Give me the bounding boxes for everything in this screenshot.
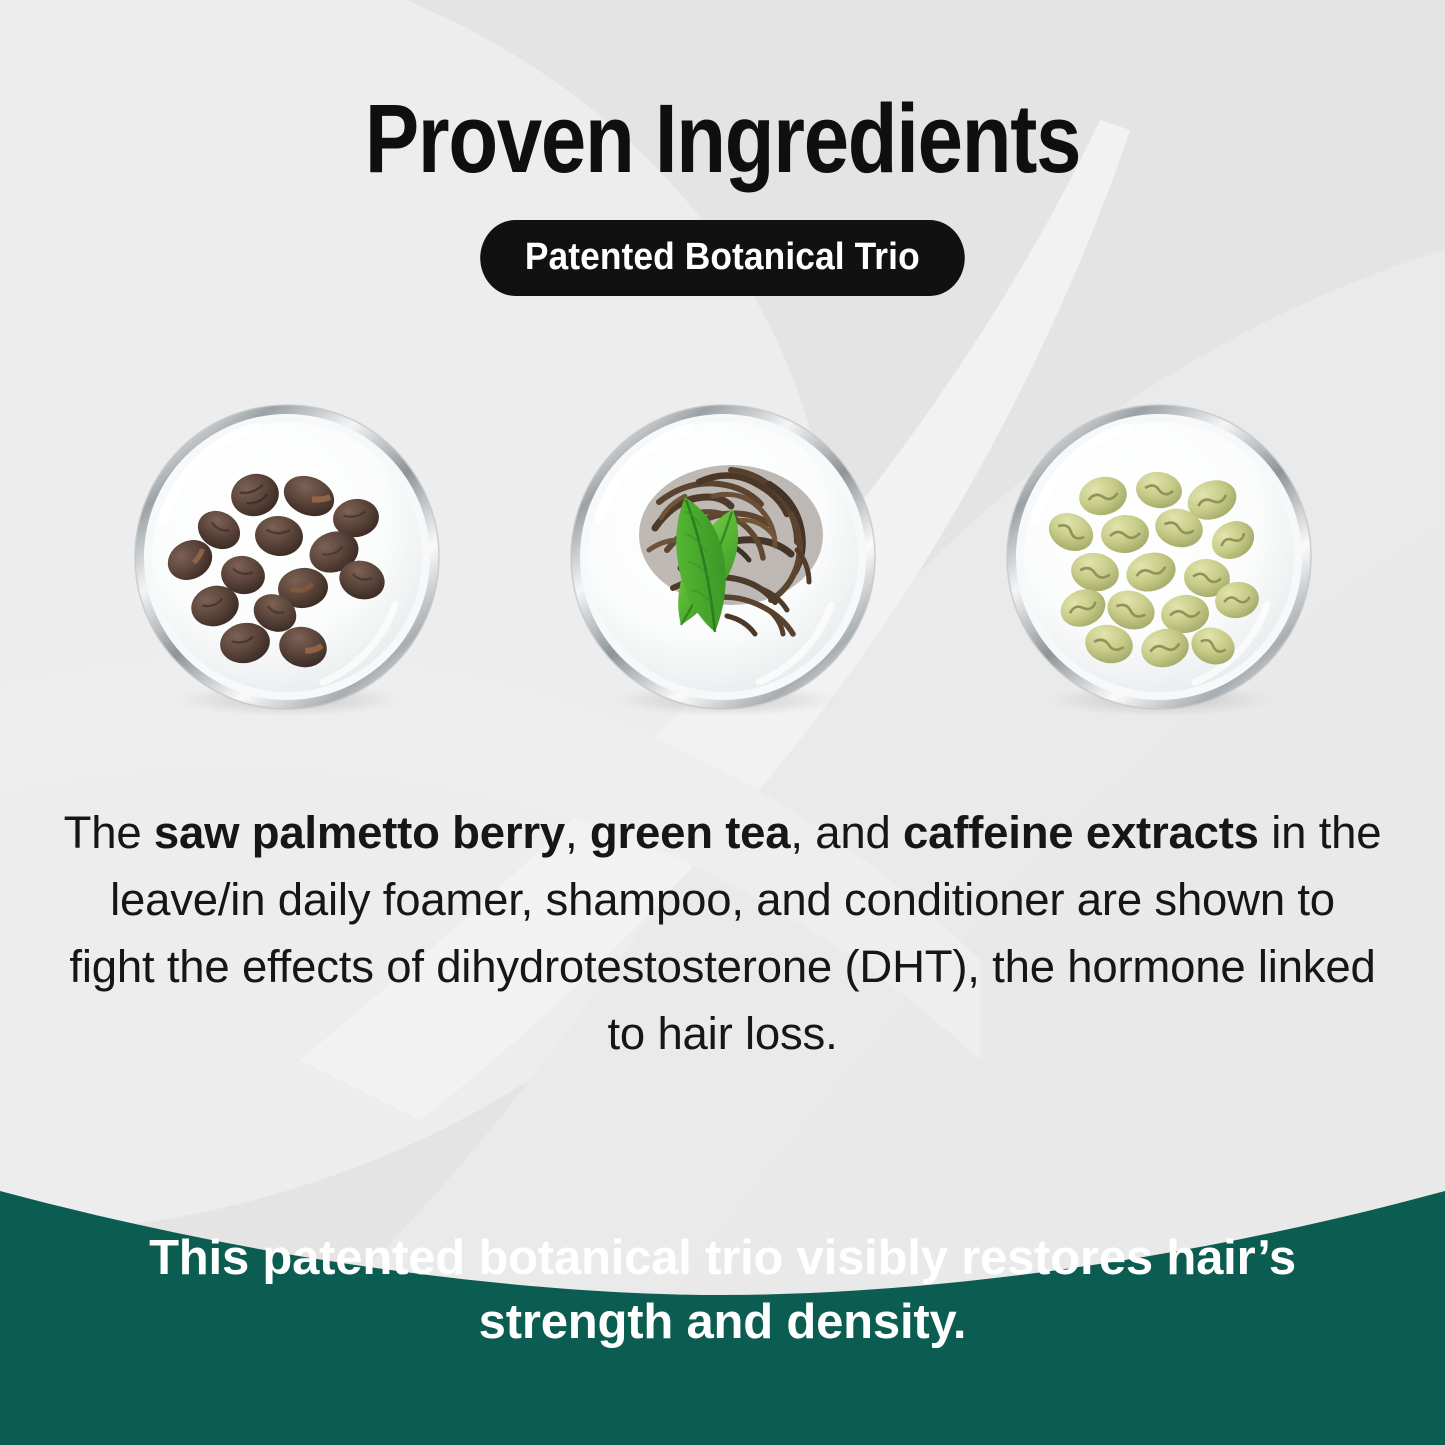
ingredient-dish-green-coffee-bean <box>999 400 1319 720</box>
body-text-part2: , <box>565 807 590 858</box>
body-bold-green-tea: green tea <box>590 807 791 858</box>
body-bold-caffeine: caffeine extracts <box>903 807 1259 858</box>
body-text-part1: The <box>64 807 154 858</box>
header: Proven Ingredients Patented Botanical Tr… <box>0 0 1445 296</box>
badge-container: Patented Botanical Trio <box>0 220 1445 296</box>
body-bold-saw-palmetto: saw palmetto berry <box>154 807 565 858</box>
infographic-page: Proven Ingredients Patented Botanical Tr… <box>0 0 1445 1445</box>
footer-band: This patented botanical trio visibly res… <box>0 1145 1445 1445</box>
petri-dish-icon <box>999 400 1319 720</box>
ingredient-dish-green-tea <box>563 400 883 720</box>
petri-dish-icon <box>127 400 447 720</box>
page-title: Proven Ingredients <box>116 88 1330 190</box>
body-text-part3: , and <box>790 807 903 858</box>
petri-dish-icon <box>563 400 883 720</box>
ingredient-dish-saw-palmetto-berry <box>127 400 447 720</box>
footer-headline: This patented botanical trio visibly res… <box>108 1227 1338 1354</box>
status-badge: Patented Botanical Trio <box>480 220 964 296</box>
ingredient-dish-row <box>0 400 1445 730</box>
ingredient-description: The saw palmetto berry, green tea, and c… <box>63 800 1383 1068</box>
